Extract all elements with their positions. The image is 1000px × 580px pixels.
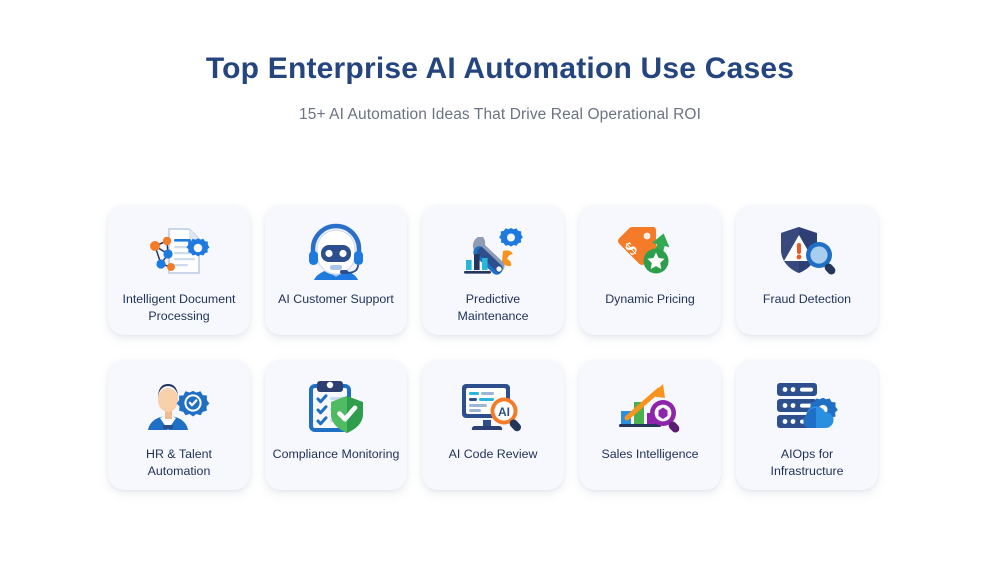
monitor-ai-magnifier-icon: AI	[455, 376, 531, 438]
use-case-card-aiops-for-infrastructure[interactable]: AIOps for Infrastructure	[736, 360, 878, 490]
use-case-card-ai-customer-support[interactable]: AI Customer Support	[265, 205, 407, 335]
use-case-card-ai-code-review[interactable]: AI AI Code Review	[422, 360, 564, 490]
page-subtitle: 15+ AI Automation Ideas That Drive Real …	[0, 106, 1000, 124]
person-gear-check-icon	[141, 376, 217, 438]
card-label: Sales Intelligence	[579, 446, 721, 463]
use-case-card-intelligent-document-processing[interactable]: Intelligent Document Processing	[108, 205, 250, 335]
wrench-gear-chart-icon	[455, 221, 531, 283]
card-label: Compliance Monitoring	[265, 446, 407, 463]
use-case-card-hr-talent-automation[interactable]: HR & Talent Automation	[108, 360, 250, 490]
use-case-card-sales-intelligence[interactable]: Sales Intelligence	[579, 360, 721, 490]
card-label: HR & Talent Automation	[108, 446, 250, 479]
use-case-card-compliance-monitoring[interactable]: Compliance Monitoring	[265, 360, 407, 490]
card-label: Predictive Maintenance	[422, 291, 564, 324]
card-label: AIOps for Infrastructure	[736, 446, 878, 479]
robot-headset-icon	[298, 221, 374, 283]
document-network-gear-icon	[141, 221, 217, 283]
infographic-page: Top Enterprise AI Automation Use Cases 1…	[0, 0, 1000, 580]
server-cloud-gear-icon	[769, 376, 845, 438]
card-label: AI Customer Support	[265, 291, 407, 308]
header: Top Enterprise AI Automation Use Cases 1…	[0, 0, 1000, 124]
clipboard-shield-check-icon	[298, 376, 374, 438]
shield-alert-magnifier-icon	[769, 221, 845, 283]
card-label: AI Code Review	[422, 446, 564, 463]
use-case-card-fraud-detection[interactable]: Fraud Detection	[736, 205, 878, 335]
card-label: Fraud Detection	[736, 291, 878, 308]
use-case-grid: Intelligent Document Processing	[108, 205, 892, 490]
page-title: Top Enterprise AI Automation Use Cases	[0, 52, 1000, 85]
use-case-card-predictive-maintenance[interactable]: Predictive Maintenance	[422, 205, 564, 335]
card-label: Dynamic Pricing	[579, 291, 721, 308]
svg-text:AI: AI	[498, 405, 510, 419]
card-label: Intelligent Document Processing	[108, 291, 250, 324]
bar-chart-arrow-magnifier-icon	[612, 376, 688, 438]
price-tag-arrow-star-icon: $	[612, 221, 688, 283]
use-case-card-dynamic-pricing[interactable]: $ Dynamic Pricing	[579, 205, 721, 335]
